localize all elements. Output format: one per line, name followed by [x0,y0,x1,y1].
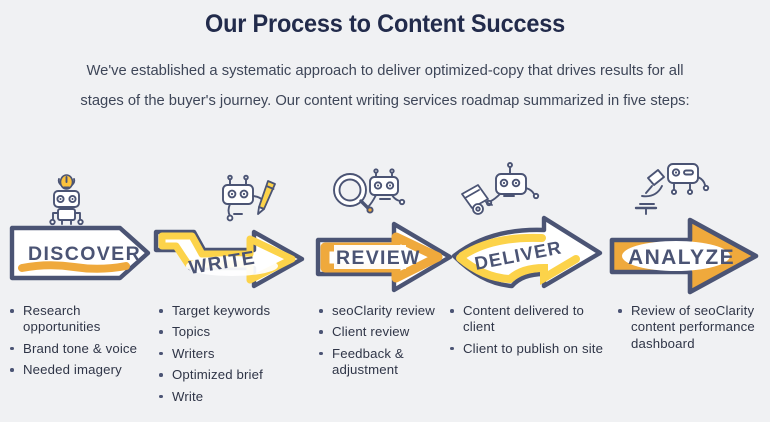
bullet-list-discover: Research opportunities Brand tone & voic… [8,303,156,379]
bullet-list-write: Target keywords Topics Writers Optimized… [157,303,317,405]
bullet-column-deliver: Content delivered to client Client to pu… [448,303,608,362]
bullet-column-review: seoClarity review Client review Feedback… [317,303,467,384]
bullet-columns: Research opportunities Brand tone & voic… [0,303,770,422]
bullet-list-deliver: Content delivered to client Client to pu… [448,303,608,357]
process-step-discover[interactable]: DISCOVER [0,160,158,300]
process-step-analyze[interactable]: ANALYZE [606,160,770,300]
list-item: Research opportunities [8,303,156,336]
process-step-review[interactable]: REVIEW [312,160,464,300]
list-item: Topics [157,324,317,340]
bullet-column-analyze: Review of seoClarity content performance… [616,303,766,357]
bullet-list-analyze: Review of seoClarity content performance… [616,303,766,352]
bullet-list-review: seoClarity review Client review Feedback… [317,303,467,379]
arrow-label-review: REVIEW [336,247,421,269]
list-item: Review of seoClarity content performance… [616,303,766,352]
list-item: Optimized brief [157,367,317,383]
arrow-shape-deliver: DELIVER [448,214,612,300]
arrow-label-analyze: ANALYZE [628,246,735,269]
arrow-shape-analyze: ANALYZE [606,210,770,300]
list-item: Writers [157,346,317,362]
arrow-shape-write: WRITE [150,212,322,298]
bullet-column-write: Target keywords Topics Writers Optimized… [157,303,317,410]
process-infographic: Our Process to Content Success We've est… [0,0,770,422]
bullet-column-discover: Research opportunities Brand tone & voic… [8,303,156,384]
page-subtitle: We've established a systematic approach … [75,56,696,116]
arrow-label-discover: DISCOVER [28,243,141,265]
page-title: Our Process to Content Success [23,0,747,39]
list-item: seoClarity review [317,303,467,319]
process-step-deliver[interactable]: DELIVER [448,160,612,300]
process-arrow-row: DISCOVER [0,160,770,300]
list-item: Client review [317,324,467,340]
list-item: Brand tone & voice [8,341,156,357]
list-item: Client to publish on site [448,341,608,357]
list-item: Content delivered to client [448,303,608,336]
list-item: Feedback & adjustment [317,346,467,379]
process-step-write[interactable]: WRITE [150,160,322,300]
arrow-shape-discover: DISCOVER [8,222,154,284]
list-item: Needed imagery [8,362,156,378]
list-item: Write [157,389,317,405]
arrow-shape-review: REVIEW [312,212,462,298]
list-item: Target keywords [157,303,317,319]
